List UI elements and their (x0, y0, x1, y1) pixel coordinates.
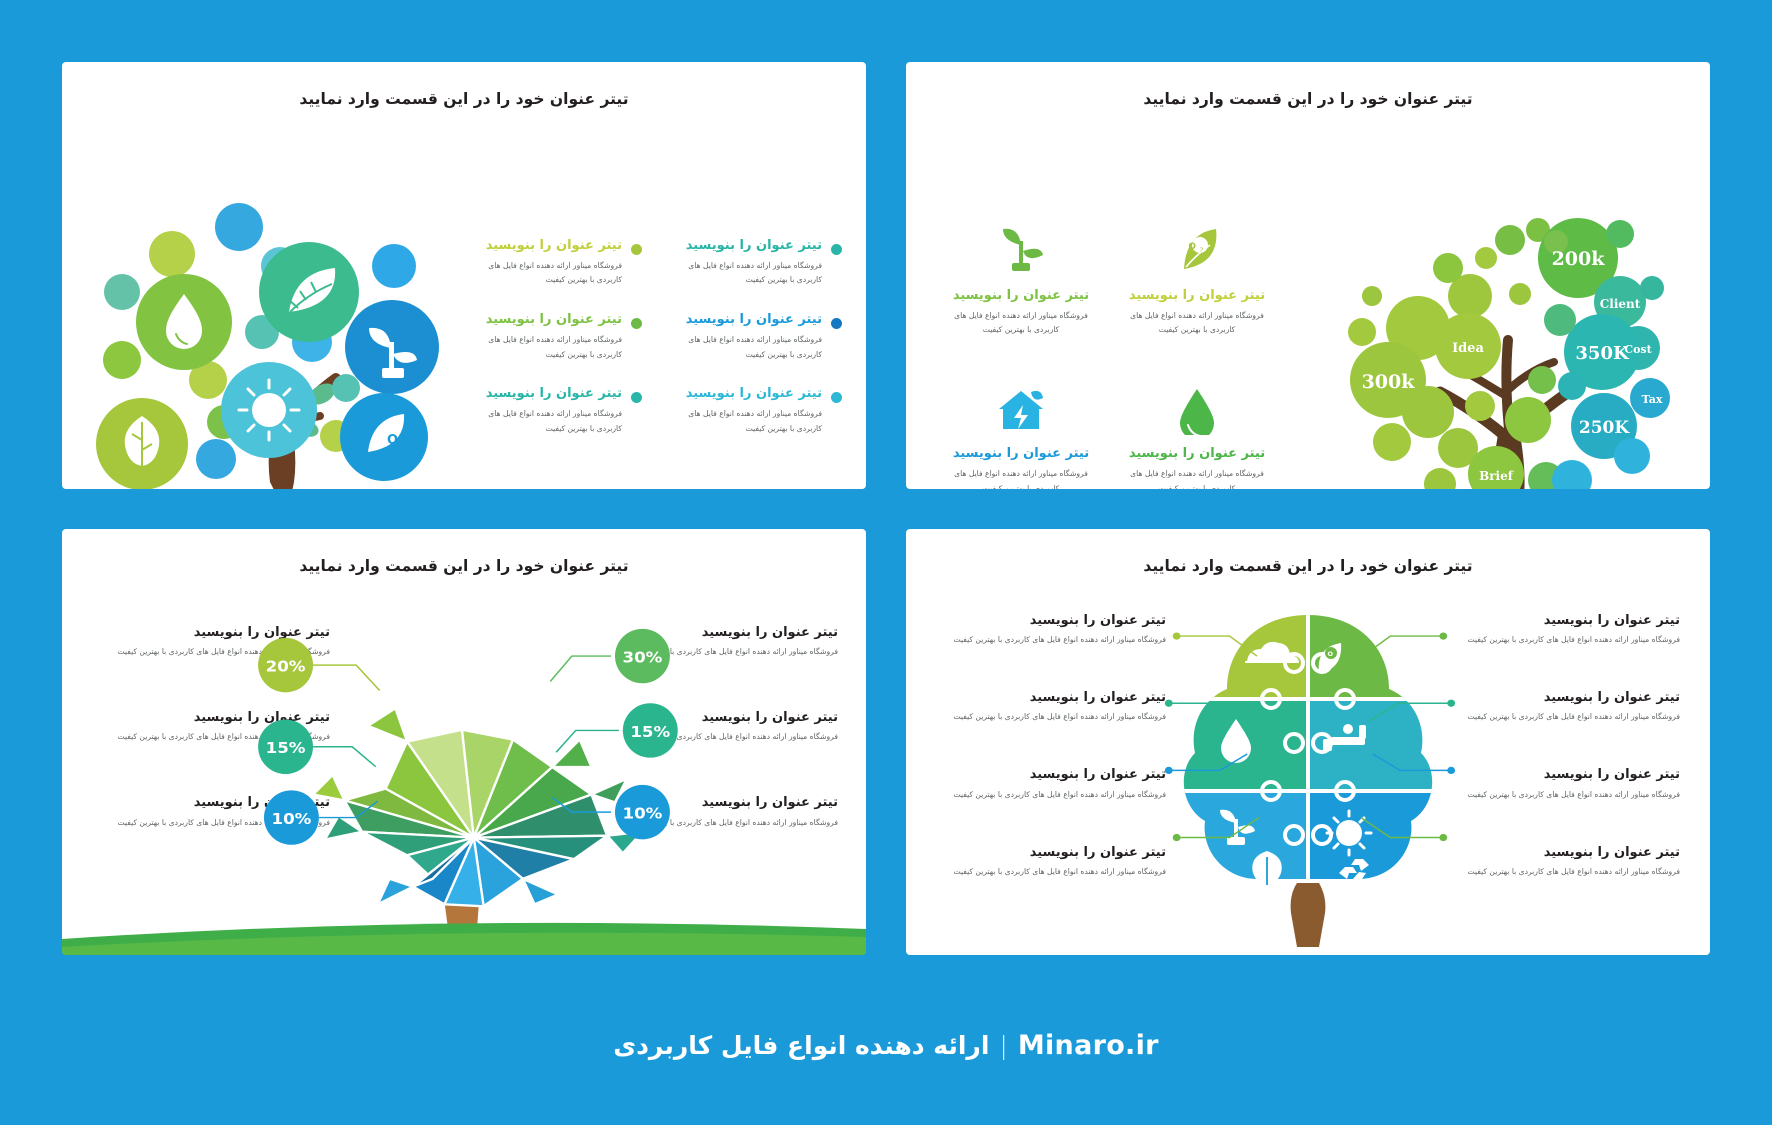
svg-text:300k: 300k (1362, 371, 1416, 393)
connector-item-body: فروشگاه میناور ارائه دهنده انواع فایل ها… (1458, 865, 1680, 880)
svg-text:250K: 250K (1579, 418, 1630, 438)
connector-item-body: فروشگاه میناور ارائه دهنده انواع فایل ها… (1458, 710, 1680, 725)
list-item-body: فروشگاه میناور ارائه دهنده انواع فایل ها… (472, 407, 622, 437)
svg-text:Tax: Tax (1642, 393, 1663, 406)
list-item-body: فروشگاه میناور ارائه دهنده انواع فایل ها… (472, 333, 622, 363)
connector-item-body: فروشگاه میناور ارائه دهنده انواع فایل ها… (944, 865, 1166, 880)
slide-3-right-items: تیتر عنوان را بنویسید فروشگاه میناور ارا… (608, 625, 838, 831)
svg-text:Brief: Brief (1479, 469, 1514, 483)
svg-text:Idea: Idea (1452, 341, 1484, 356)
list-item-body: فروشگاه میناور ارائه دهنده انواع فایل ها… (672, 333, 822, 363)
percent-item-title: تیتر عنوان را بنویسید (100, 710, 330, 726)
feature-body: فروشگاه میناور ارائه دهنده انواع فایل ها… (944, 309, 1098, 339)
connector-item[interactable]: تیتر عنوان را بنویسید فروشگاه میناور ارا… (944, 613, 1166, 648)
feature-cell[interactable]: تیتر عنوان را بنویسید فروشگاه میناور ارا… (1120, 380, 1274, 488)
list-item-title: تیتر عنوان را بنویسید (472, 238, 622, 254)
slide-2: تیتر عنوان خود را در این قسمت وارد نمایی… (906, 62, 1710, 489)
page-title: تیتر عنوان خود را در این قسمت وارد نمایی… (62, 62, 866, 108)
feature-cell[interactable]: تیتر عنوان را بنویسید فروشگاه میناور ارا… (944, 222, 1098, 338)
water-drop-icon (1120, 380, 1274, 438)
feature-cell[interactable]: O 2 تیتر عنوان را بنویسید فروشگاه میناور… (1120, 222, 1274, 338)
feature-title: تیتر عنوان را بنویسید (944, 446, 1098, 462)
list-item-title: تیتر عنوان را بنویسید (672, 238, 822, 254)
feature-title: تیتر عنوان را بنویسید (1120, 288, 1274, 304)
list-item-body: فروشگاه میناور ارائه دهنده انواع فایل ها… (472, 259, 622, 289)
percent-item-title: تیتر عنوان را بنویسید (608, 625, 838, 641)
percent-item[interactable]: تیتر عنوان را بنویسید فروشگاه میناور ارا… (100, 710, 330, 745)
connector-item-title: تیتر عنوان را بنویسید (944, 767, 1166, 783)
percent-item-title: تیتر عنوان را بنویسید (100, 625, 330, 641)
list-item[interactable]: تیتر عنوان را بنویسید فروشگاه میناور ارا… (472, 312, 642, 362)
feature-body: فروشگاه میناور ارائه دهنده انواع فایل ها… (1120, 467, 1274, 489)
slide-4-right-items: تیتر عنوان را بنویسید فروشگاه میناور ارا… (1458, 613, 1680, 881)
slide-1-column-right: تیتر عنوان را بنویسید فروشگاه میناور ارا… (672, 238, 842, 437)
list-item[interactable]: تیتر عنوان را بنویسید فروشگاه میناور ارا… (672, 312, 842, 362)
connector-item-body: فروشگاه میناور ارائه دهنده انواع فایل ها… (944, 633, 1166, 648)
list-item[interactable]: تیتر عنوان را بنویسید فروشگاه میناور ارا… (472, 386, 642, 436)
sprout-icon (944, 222, 1098, 280)
connector-item-title: تیتر عنوان را بنویسید (944, 613, 1166, 629)
slide-1-column-left: تیتر عنوان را بنویسید فروشگاه میناور ارا… (472, 238, 642, 437)
connector-item[interactable]: تیتر عنوان را بنویسید فروشگاه میناور ارا… (944, 767, 1166, 802)
feature-body: فروشگاه میناور ارائه دهنده انواع فایل ها… (944, 467, 1098, 489)
percent-item[interactable]: تیتر عنوان را بنویسید فروشگاه میناور ارا… (100, 625, 330, 660)
slide-4-left-items: تیتر عنوان را بنویسید فروشگاه میناور ارا… (944, 613, 1166, 881)
page-title: تیتر عنوان خود را در این قسمت وارد نمایی… (906, 62, 1710, 108)
percent-item[interactable]: تیتر عنوان را بنویسید فروشگاه میناور ارا… (608, 710, 838, 745)
connector-item-title: تیتر عنوان را بنویسید (944, 845, 1166, 861)
bubble-label: 200k (1552, 248, 1606, 270)
list-item-body: فروشگاه میناور ارائه دهنده انواع فایل ها… (672, 407, 822, 437)
svg-text:O: O (1188, 242, 1196, 252)
o2-leaf-icon: O 2 (1120, 222, 1274, 280)
page-title: تیتر عنوان خود را در این قسمت وارد نمایی… (906, 529, 1710, 575)
bullet-dot (631, 244, 642, 255)
bullet-dot (831, 244, 842, 255)
bullet-dot (631, 392, 642, 403)
percent-item-title: تیتر عنوان را بنویسید (100, 795, 330, 811)
list-item[interactable]: تیتر عنوان را بنویسید فروشگاه میناور ارا… (672, 386, 842, 436)
page-title: تیتر عنوان خود را در این قسمت وارد نمایی… (62, 529, 866, 575)
percent-item[interactable]: تیتر عنوان را بنویسید فروشگاه میناور ارا… (608, 625, 838, 660)
slide-deck: تیتر عنوان خود را در این قسمت وارد نمایی… (0, 0, 1772, 1125)
connector-item-body: فروشگاه میناور ارائه دهنده انواع فایل ها… (1458, 633, 1680, 648)
connector-item[interactable]: تیتر عنوان را بنویسید فروشگاه میناور ارا… (944, 845, 1166, 880)
list-item-title: تیتر عنوان را بنویسید (672, 312, 822, 328)
ground-strip (62, 919, 866, 955)
percent-item-body: فروشگاه میناور ارائه دهنده انواع فایل ها… (608, 730, 838, 745)
percent-item-body: فروشگاه میناور ارائه دهنده انواع فایل ها… (608, 816, 838, 831)
bubble-tree-chart: 200k Client Cost Idea 300k 350K Tax 250K… (1320, 180, 1700, 489)
connector-item[interactable]: تیتر عنوان را بنویسید فروشگاه میناور ارا… (1458, 613, 1680, 648)
svg-text:O: O (1328, 650, 1334, 658)
puzzle-tree: O (1163, 607, 1453, 951)
percent-item[interactable]: تیتر عنوان را بنویسید فروشگاه میناور ارا… (100, 795, 330, 830)
percent-item-body: فروشگاه میناور ارائه دهنده انواع فایل ها… (100, 730, 330, 745)
footer-tagline-fa: ارائه دهنده انواع فایل کاربردی (613, 1031, 989, 1060)
connector-item-body: فروشگاه میناور ارائه دهنده انواع فایل ها… (1458, 788, 1680, 803)
list-item-title: تیتر عنوان را بنویسید (472, 386, 622, 402)
connector-item[interactable]: تیتر عنوان را بنویسید فروشگاه میناور ارا… (1458, 767, 1680, 802)
svg-text:Client: Client (1600, 297, 1641, 311)
footer-separator: | (999, 1031, 1007, 1060)
percent-item-body: فروشگاه میناور ارائه دهنده انواع فایل ها… (608, 645, 838, 660)
list-item[interactable]: تیتر عنوان را بنویسید فروشگاه میناور ارا… (472, 238, 642, 288)
slide-3-left-items: تیتر عنوان را بنویسید فروشگاه میناور ارا… (100, 625, 330, 831)
connector-item-title: تیتر عنوان را بنویسید (1458, 767, 1680, 783)
feature-cell[interactable]: تیتر عنوان را بنویسید فروشگاه میناور ارا… (944, 380, 1098, 488)
feature-body: فروشگاه میناور ارائه دهنده انواع فایل ها… (1120, 309, 1274, 339)
footer-brand: Minaro.ir (1018, 1030, 1159, 1061)
slide-2-feature-grid: O 2 تیتر عنوان را بنویسید فروشگاه میناور… (944, 222, 1274, 489)
feature-title: تیتر عنوان را بنویسید (1120, 446, 1274, 462)
bullet-dot (831, 318, 842, 329)
connector-item-body: فروشگاه میناور ارائه دهنده انواع فایل ها… (944, 788, 1166, 803)
slide-1: تیتر عنوان خود را در این قسمت وارد نمایی… (62, 62, 866, 489)
connector-item-title: تیتر عنوان را بنویسید (944, 690, 1166, 706)
connector-item[interactable]: تیتر عنوان را بنویسید فروشگاه میناور ارا… (944, 690, 1166, 725)
list-item-title: تیتر عنوان را بنویسید (672, 386, 822, 402)
connector-item-title: تیتر عنوان را بنویسید (1458, 845, 1680, 861)
list-item[interactable]: تیتر عنوان را بنویسید فروشگاه میناور ارا… (672, 238, 842, 288)
percent-item-title: تیتر عنوان را بنویسید (608, 710, 838, 726)
list-item-title: تیتر عنوان را بنویسید (472, 312, 622, 328)
footer: ارائه دهنده انواع فایل کاربردی | Minaro.… (0, 965, 1772, 1125)
percent-item-body: فروشگاه میناور ارائه دهنده انواع فایل ها… (100, 816, 330, 831)
slide-1-text-columns: تیتر عنوان را بنویسید فروشگاه میناور ارا… (472, 238, 842, 437)
connector-item-body: فروشگاه میناور ارائه دهنده انواع فایل ها… (944, 710, 1166, 725)
connector-item-title: تیتر عنوان را بنویسید (1458, 690, 1680, 706)
svg-text:2: 2 (396, 441, 401, 450)
bullet-dot (831, 392, 842, 403)
slide-4: تیتر عنوان خود را در این قسمت وارد نمایی… (906, 529, 1710, 956)
bullet-dot (631, 318, 642, 329)
feature-title: تیتر عنوان را بنویسید (944, 288, 1098, 304)
connector-item[interactable]: تیتر عنوان را بنویسید فروشگاه میناور ارا… (1458, 690, 1680, 725)
percent-item[interactable]: تیتر عنوان را بنویسید فروشگاه میناور ارا… (608, 795, 838, 830)
percent-item-title: تیتر عنوان را بنویسید (608, 795, 838, 811)
percent-item-body: فروشگاه میناور ارائه دهنده انواع فایل ها… (100, 645, 330, 660)
slide-3: تیتر عنوان خود را در این قسمت وارد نمایی… (62, 529, 866, 956)
connector-item[interactable]: تیتر عنوان را بنویسید فروشگاه میناور ارا… (1458, 845, 1680, 880)
svg-text:350K: 350K (1575, 343, 1630, 364)
list-item-body: فروشگاه میناور ارائه دهنده انواع فایل ها… (672, 259, 822, 289)
eco-house-icon (944, 380, 1098, 438)
connector-item-title: تیتر عنوان را بنویسید (1458, 613, 1680, 629)
circle-bubble-tree-icons: O 2 (84, 182, 484, 489)
